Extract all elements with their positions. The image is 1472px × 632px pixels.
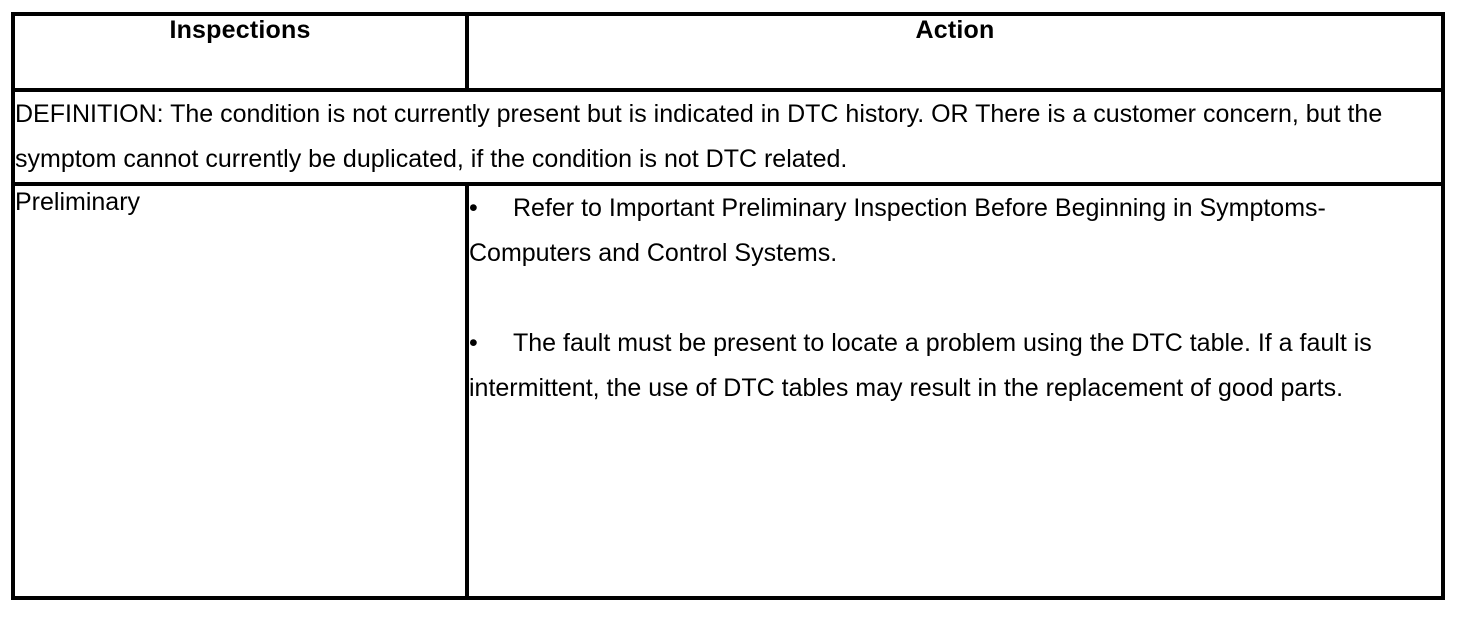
table-body: DEFINITION: The condition is not current… [13, 90, 1443, 598]
action-cell: •Refer to Important Preliminary Inspecti… [467, 184, 1443, 598]
bullet-point-icon: • [469, 321, 513, 366]
table-row: Preliminary •Refer to Important Prelimin… [13, 184, 1443, 598]
document-page: Inspections Action DEFINITION: The condi… [0, 0, 1472, 632]
action-text-2: The fault must be present to locate a pr… [469, 329, 1372, 402]
table-header-row: Inspections Action [13, 14, 1443, 90]
definition-cell: DEFINITION: The condition is not current… [13, 90, 1443, 184]
action-bullet-list: •Refer to Important Preliminary Inspecti… [469, 186, 1441, 411]
inspection-label-preliminary: Preliminary [15, 186, 465, 218]
inspection-name-cell: Preliminary [13, 184, 467, 598]
table-header: Inspections Action [13, 14, 1443, 90]
list-item: •Refer to Important Preliminary Inspecti… [469, 186, 1441, 276]
column-header-inspections: Inspections [13, 14, 467, 90]
action-text-1: Refer to Important Preliminary Inspectio… [469, 194, 1326, 267]
bullet-point-icon: • [469, 186, 513, 231]
column-header-action: Action [467, 14, 1443, 90]
dtc-symptom-table: Inspections Action DEFINITION: The condi… [11, 12, 1445, 600]
list-item: •The fault must be present to locate a p… [469, 321, 1441, 411]
definition-row: DEFINITION: The condition is not current… [13, 90, 1443, 184]
definition-text: DEFINITION: The condition is not current… [15, 92, 1441, 182]
